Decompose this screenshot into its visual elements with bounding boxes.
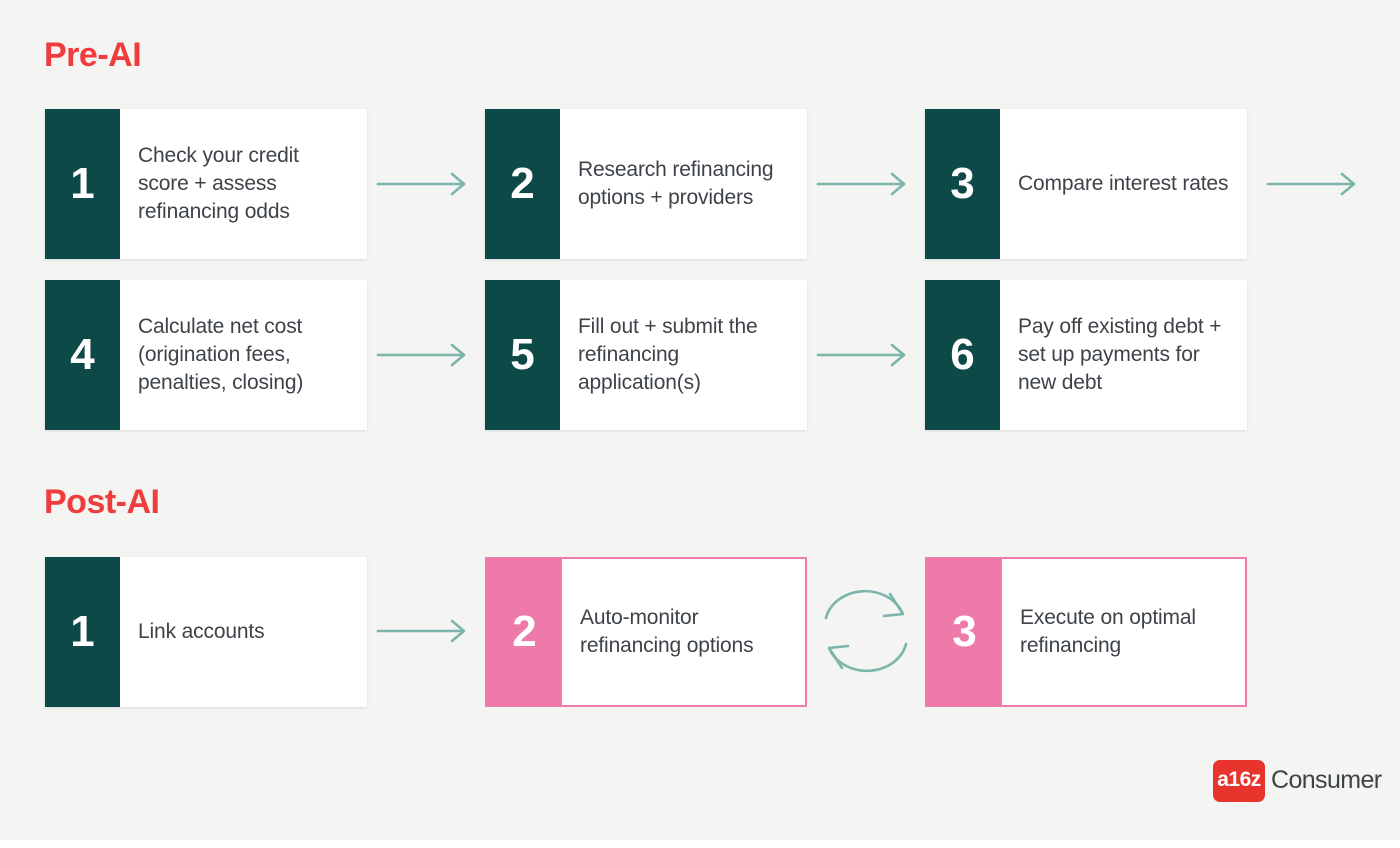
cycle-arrow-post-2-and-3	[818, 572, 914, 690]
arrow-pre-5-to-6	[816, 339, 916, 371]
step-card-pre-3[interactable]: 3 Compare interest rates	[925, 109, 1247, 259]
bottom-strip	[0, 840, 1400, 848]
section-title-pre-ai: Pre-AI	[44, 38, 141, 72]
step-number-badge: 6	[925, 280, 1000, 430]
step-label: Compare interest rates	[1000, 109, 1247, 259]
a16z-logo-word: Consumer	[1271, 766, 1382, 797]
step-card-pre-1[interactable]: 1 Check your credit score + assess refin…	[45, 109, 367, 259]
step-number-badge: 5	[485, 280, 560, 430]
step-label: Calculate net cost (origination fees, pe…	[120, 280, 367, 430]
step-label: Auto-monitor refinancing options	[562, 559, 805, 705]
step-card-post-1[interactable]: 1 Link accounts	[45, 557, 367, 707]
step-label: Pay off existing debt + set up payments …	[1000, 280, 1247, 430]
diagram-canvas: Pre-AI 1 Check your credit score + asses…	[0, 0, 1400, 848]
section-title-post-ai: Post-AI	[44, 485, 160, 519]
arrow-pre-2-to-3	[816, 168, 916, 200]
step-label: Execute on optimal refinancing	[1002, 559, 1245, 705]
arrow-pre-4-to-5	[376, 339, 476, 371]
a16z-consumer-logo: a16z Consumer	[1213, 760, 1382, 802]
step-number-badge: 1	[45, 109, 120, 259]
step-number-badge: 1	[45, 557, 120, 707]
arrow-post-1-to-2	[376, 615, 476, 647]
step-card-post-2[interactable]: 2 Auto-monitor refinancing options	[485, 557, 807, 707]
step-number-badge: 3	[927, 559, 1002, 705]
step-card-pre-4[interactable]: 4 Calculate net cost (origination fees, …	[45, 280, 367, 430]
step-number-badge: 2	[485, 109, 560, 259]
step-card-pre-5[interactable]: 5 Fill out + submit the refinancing appl…	[485, 280, 807, 430]
step-card-pre-6[interactable]: 6 Pay off existing debt + set up payment…	[925, 280, 1247, 430]
step-label: Research refinancing options + providers	[560, 109, 807, 259]
arrow-pre-1-to-2	[376, 168, 476, 200]
step-label: Check your credit score + assess refinan…	[120, 109, 367, 259]
arrow-pre-3-to-4-wrap	[1266, 168, 1366, 200]
step-number-badge: 2	[487, 559, 562, 705]
step-card-post-3[interactable]: 3 Execute on optimal refinancing	[925, 557, 1247, 707]
step-label: Link accounts	[120, 557, 367, 707]
step-number-badge: 4	[45, 280, 120, 430]
a16z-logo-mark: a16z	[1213, 760, 1265, 802]
step-label: Fill out + submit the refinancing applic…	[560, 280, 807, 430]
step-card-pre-2[interactable]: 2 Research refinancing options + provide…	[485, 109, 807, 259]
step-number-badge: 3	[925, 109, 1000, 259]
